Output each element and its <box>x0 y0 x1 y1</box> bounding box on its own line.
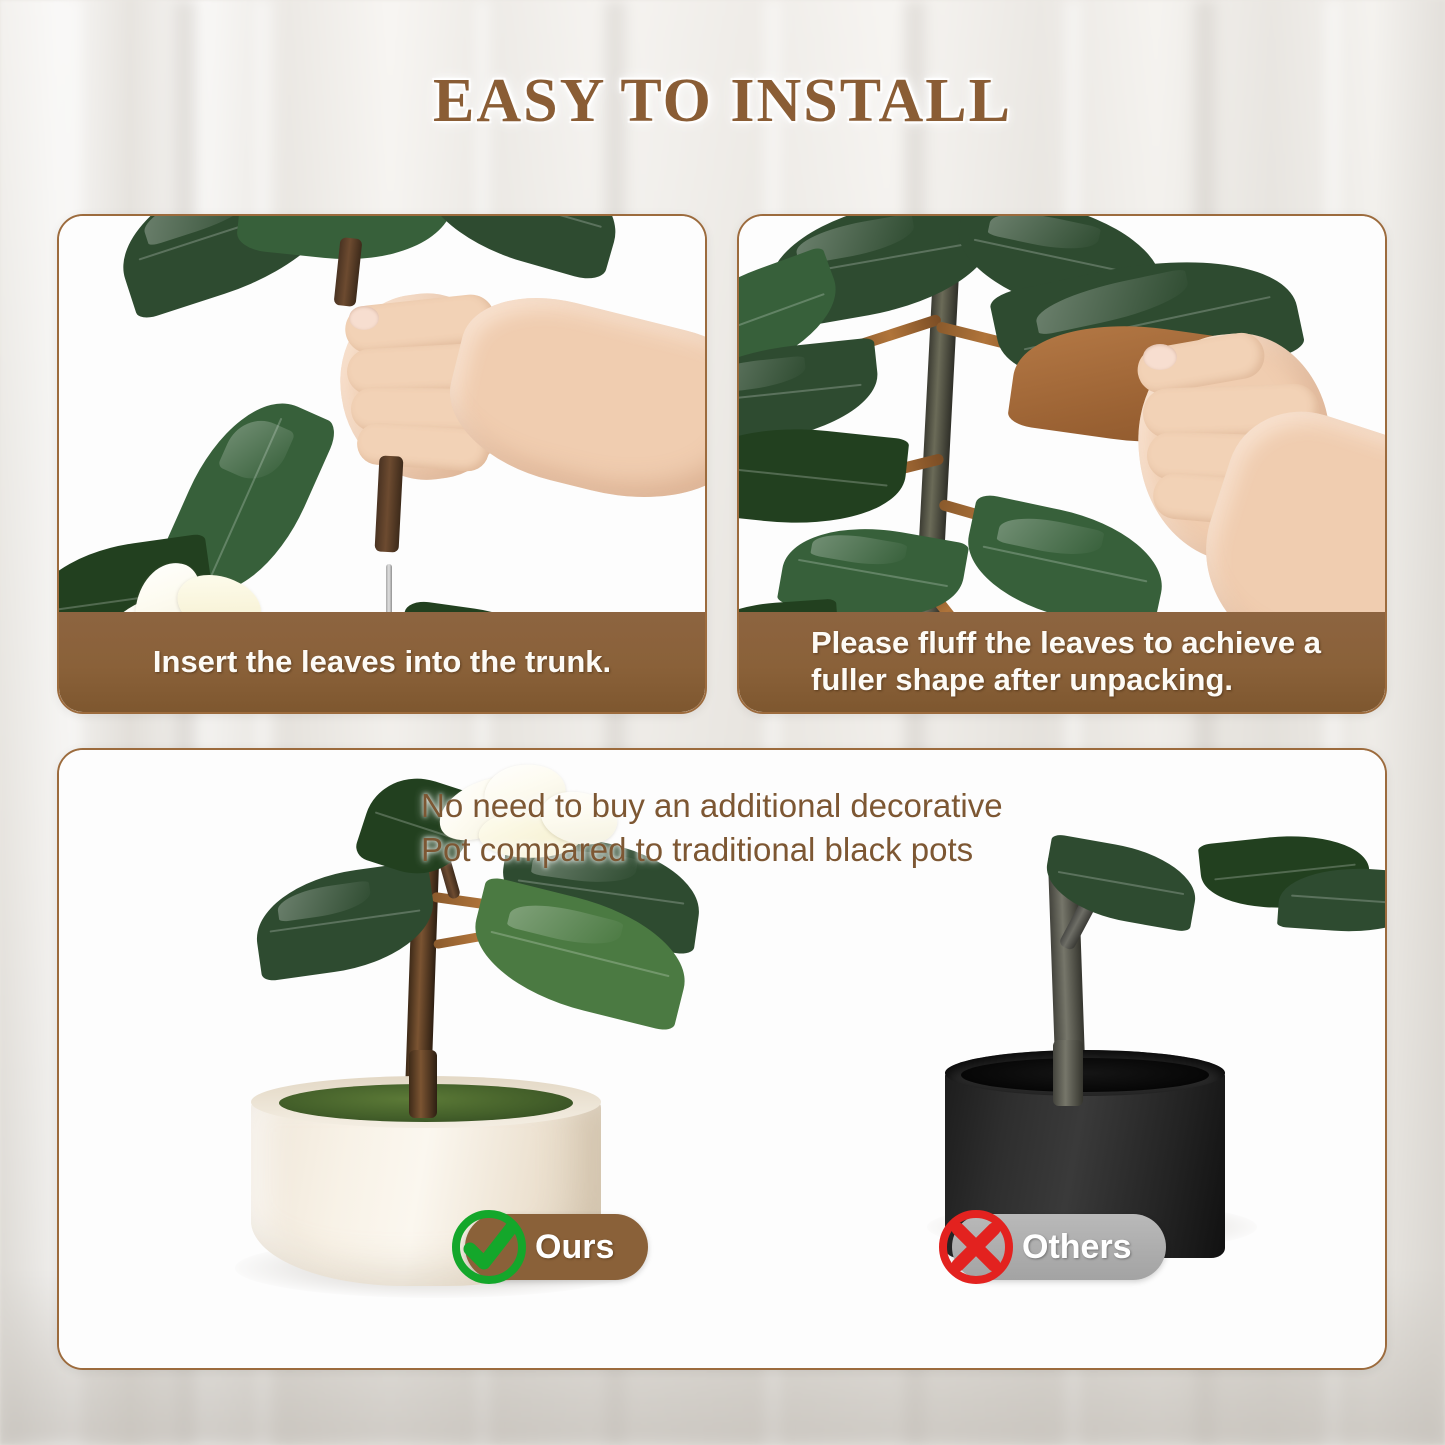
leaf-bottom-right <box>393 599 569 612</box>
caption-text: Insert the leaves into the trunk. <box>153 644 611 681</box>
others-pot-interior <box>961 1058 1209 1092</box>
badge-others[interactable]: Others <box>952 1214 1166 1280</box>
caption-fluff-leaves: Please fluff the leaves to achieve a ful… <box>739 612 1385 712</box>
badge-ours-label: Ours <box>535 1228 614 1267</box>
ours-magnolia-flower <box>433 774 623 894</box>
step-panel-fluff-leaves: Please fluff the leaves to achieve a ful… <box>737 214 1387 714</box>
badge-others-label: Others <box>1022 1228 1132 1267</box>
leaf-mid-left-lower <box>739 417 909 535</box>
branch-lower-segment <box>375 455 404 552</box>
magnolia-flower <box>81 552 291 612</box>
cross-circle-icon <box>934 1205 1018 1289</box>
thumbnail <box>1143 344 1177 370</box>
photo-insert-leaves <box>59 216 705 612</box>
photo-pot-comparison: No need to buy an additional decorative … <box>59 750 1385 1368</box>
comparison-panel-pots: No need to buy an additional decorative … <box>57 748 1387 1370</box>
caption-insert-leaves: Insert the leaves into the trunk. <box>59 612 705 712</box>
metal-pin-icon <box>386 564 392 612</box>
leaf-mid-right <box>956 492 1173 612</box>
badge-ours[interactable]: Ours <box>465 1214 648 1280</box>
page-title: EASY TO INSTALL <box>0 66 1445 137</box>
check-circle-icon <box>447 1205 531 1289</box>
step-panel-insert-leaves: Insert the leaves into the trunk. <box>57 214 707 714</box>
photo-fluff-leaves <box>739 216 1385 612</box>
others-trunk-in-pot <box>1053 1040 1083 1106</box>
thumbnail <box>349 306 379 330</box>
ours-trunk-in-pot <box>409 1050 437 1118</box>
caption-line-1: Please fluff the leaves to achieve a <box>811 625 1321 660</box>
caption-line-2: fuller shape after unpacking. <box>811 662 1233 697</box>
